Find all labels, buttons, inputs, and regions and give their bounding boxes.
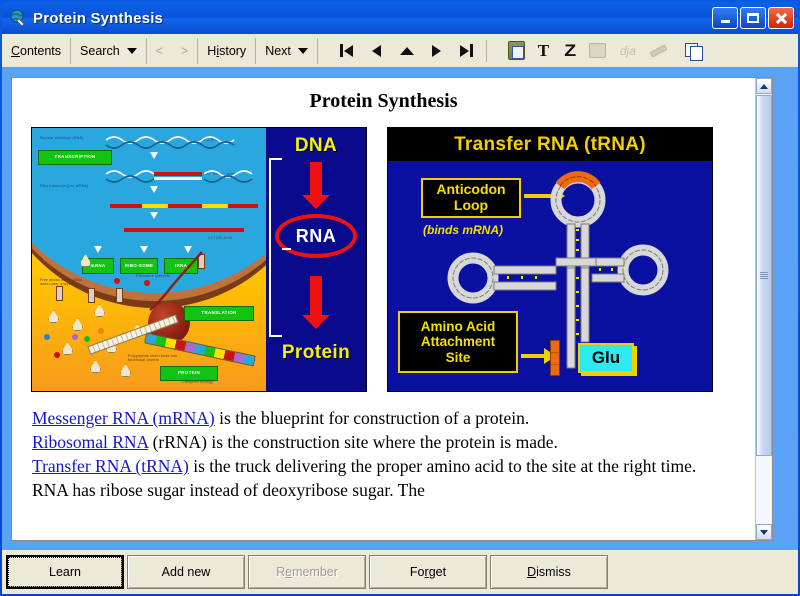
content-frame: Protein Synthesis Nuclear envelope (DNA)… xyxy=(2,68,798,550)
dja-icon: dja xyxy=(611,38,645,64)
transfer-rna-diagram: Transfer RNA (tRNA) Anticodon Loop (bind… xyxy=(387,127,713,392)
document-content: Protein Synthesis Nuclear envelope (DNA)… xyxy=(12,78,755,540)
vertical-scrollbar[interactable] xyxy=(755,78,772,540)
action-bar: Learn Add new Remember Forget Dismiss xyxy=(2,550,798,594)
globe-icon xyxy=(9,9,27,27)
amino-acid-glu: Glu xyxy=(578,343,634,373)
zoom-z-icon[interactable]: Z xyxy=(557,38,584,64)
toolbar-back-button[interactable]: < xyxy=(147,38,172,64)
acceptor-end xyxy=(550,340,560,376)
toolbar-next-label: Next xyxy=(265,44,291,58)
link-ribosomal-rna[interactable]: Ribosomal RNA xyxy=(32,432,148,452)
first-page-icon[interactable] xyxy=(332,38,362,64)
cell-annotation: RNA transcript (pre-mRNA) xyxy=(40,184,112,188)
scroll-up-arrow[interactable] xyxy=(756,78,772,94)
flow-arrow-2 xyxy=(310,276,322,316)
dismiss-button[interactable]: Dismiss xyxy=(490,555,608,589)
transcription-schematic xyxy=(104,132,264,252)
toolbar-contents-button[interactable]: Contents xyxy=(2,38,71,64)
cell-illustration: Nuclear envelope (DNA) NUCLEUS Exon · in… xyxy=(32,128,266,391)
cell-annotation: Polypeptide chain folds into functional … xyxy=(128,354,190,363)
cell-annotation: Ribosome subunits xyxy=(136,274,194,278)
maximize-button[interactable] xyxy=(740,7,766,29)
copy-pages-icon[interactable] xyxy=(680,38,707,64)
toolbar: Contents Search < > History Next xyxy=(2,34,798,68)
figure-row: Nuclear envelope (DNA) NUCLEUS Exon · in… xyxy=(12,127,755,392)
trna-header: Transfer RNA (tRNA) xyxy=(388,128,712,161)
link-transfer-rna[interactable]: Transfer RNA (tRNA) xyxy=(32,456,189,476)
learn-button[interactable]: Learn xyxy=(6,555,124,589)
toolbar-separator xyxy=(486,40,487,62)
page-title: Protein Synthesis xyxy=(12,90,755,113)
toolbar-next-button[interactable]: Next xyxy=(256,38,318,64)
window-title: Protein Synthesis xyxy=(33,10,163,27)
application-window: Protein Synthesis Contents Search < > Hi… xyxy=(0,0,800,596)
scroll-thumb[interactable] xyxy=(756,95,772,456)
flow-arrow-1 xyxy=(310,162,322,196)
link-messenger-rna[interactable]: Messenger RNA (mRNA) xyxy=(32,408,215,428)
toolbar-history-button[interactable]: History xyxy=(198,38,256,64)
cell-annotation: Nuclear envelope (DNA) xyxy=(40,136,92,140)
title-bar: Protein Synthesis xyxy=(2,2,798,34)
text-t-icon[interactable]: T xyxy=(530,38,557,64)
label-trna: tRNA xyxy=(164,258,198,274)
chevron-down-icon[interactable] xyxy=(298,48,308,54)
toolbar-forward-button[interactable]: > xyxy=(172,38,198,64)
close-button[interactable] xyxy=(768,7,794,29)
print-icon xyxy=(584,38,611,64)
flow-bracket xyxy=(269,158,282,337)
flow-label-dna: DNA xyxy=(295,135,337,157)
scroll-grip-icon xyxy=(760,272,768,279)
chevron-down-icon[interactable] xyxy=(127,48,137,54)
window-buttons xyxy=(712,7,798,29)
flow-label-rna: RNA xyxy=(275,214,357,258)
up-page-icon[interactable] xyxy=(392,38,422,64)
clipboard-icon[interactable] xyxy=(503,38,530,64)
label-transcription: TRANSCRIPTION xyxy=(38,150,112,165)
previous-page-icon[interactable] xyxy=(362,38,392,64)
remember-button[interactable]: Remember xyxy=(248,555,366,589)
document-view: Protein Synthesis Nuclear envelope (DNA)… xyxy=(11,77,773,541)
body-line2-rest: (rRNA) is the construction site where th… xyxy=(148,432,558,452)
next-page-icon[interactable] xyxy=(422,38,452,64)
forget-button[interactable]: Forget xyxy=(369,555,487,589)
label-translation: TRANSLATION xyxy=(184,306,254,321)
toolbar-search-label: Search xyxy=(80,44,120,58)
pencil-icon xyxy=(645,38,672,64)
cell-annotation: CYTOPLASM xyxy=(208,236,254,240)
cell-protein-synthesis-diagram: Nuclear envelope (DNA) NUCLEUS Exon · in… xyxy=(31,127,367,392)
label-protein: PROTEIN xyxy=(160,366,218,381)
label-ribosome: RIBO-SOME xyxy=(120,258,158,274)
body-line1-rest: is the blueprint for construction of a p… xyxy=(215,408,529,428)
last-page-icon[interactable] xyxy=(452,38,482,64)
scroll-down-arrow[interactable] xyxy=(756,524,772,540)
dna-rna-protein-flow: DNA RNA Protein xyxy=(266,128,366,391)
toolbar-search-button[interactable]: Search xyxy=(71,38,147,64)
body-text: Messenger RNA (mRNA) is the blueprint fo… xyxy=(32,406,735,503)
cell-annotation: Free amino acids, tRNA molecules, enzyme… xyxy=(40,278,94,287)
flow-label-protein: Protein xyxy=(282,342,350,364)
add-new-button[interactable]: Add new xyxy=(127,555,245,589)
minimize-button[interactable] xyxy=(712,7,738,29)
